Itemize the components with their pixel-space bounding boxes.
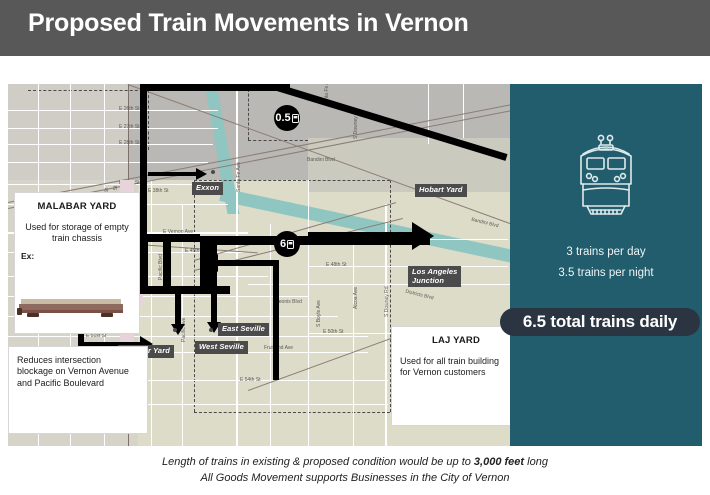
callout-title: MALABAR YARD bbox=[21, 201, 133, 212]
caption-line1-bold: 3,000 feet bbox=[474, 456, 524, 468]
figure-area: E 26th St E 27th St E 28th St E 37th St … bbox=[8, 84, 702, 446]
stats-panel: 3 trains per day 3.5 trains per night 6.… bbox=[510, 84, 702, 446]
street-label: S Boyle Ave bbox=[316, 300, 322, 327]
callout-example-label: Ex: bbox=[21, 251, 133, 261]
train-glyph-icon bbox=[287, 240, 294, 249]
map-label-hobart-yard[interactable]: Hobart Yard bbox=[415, 184, 467, 197]
callout-body: Used for storage of empty train chassis bbox=[21, 222, 133, 245]
street-label: Santa Fe Ave bbox=[236, 162, 242, 192]
total-trains-badge: 6.5 total trains daily bbox=[500, 308, 700, 336]
callout-title: LAJ YARD bbox=[400, 335, 510, 346]
badge-half-train[interactable]: 0.5 bbox=[274, 105, 300, 131]
caption-line-2: All Goods Movement supports Businesses i… bbox=[0, 471, 710, 487]
flatcar-photo bbox=[17, 295, 125, 321]
street-label: Alcoa Ave bbox=[353, 287, 359, 309]
trains-per-day-line: 3 trains per day bbox=[510, 246, 702, 258]
map-dot-exxon bbox=[211, 170, 215, 174]
street-label: E 27th St bbox=[119, 124, 140, 130]
arrow-east-trunk bbox=[412, 222, 434, 250]
total-trains-label: 6.5 total trains daily bbox=[523, 312, 677, 332]
callout-malabar-yard[interactable]: MALABAR YARD Used for storage of empty t… bbox=[14, 192, 140, 334]
arrow-exxon bbox=[196, 168, 207, 180]
caption-line1-post: long bbox=[524, 456, 548, 468]
caption-line1-pre: Length of trains in existing & proposed … bbox=[162, 456, 474, 468]
street-label: E 28th St bbox=[119, 140, 140, 146]
header-bar: Proposed Train Movements in Vernon bbox=[0, 0, 710, 56]
trains-per-night-line: 3.5 trains per night bbox=[510, 267, 702, 279]
map-dot-east-seville bbox=[209, 328, 213, 332]
callout-body: Reduces intersection blockage on Vernon … bbox=[17, 355, 139, 389]
street-label: E 50th St bbox=[323, 329, 344, 335]
caption-line-1: Length of trains in existing & proposed … bbox=[0, 455, 710, 471]
street-label: E 38th St bbox=[148, 188, 169, 194]
map-label-line: Junction bbox=[412, 277, 457, 286]
page-title: Proposed Train Movements in Vernon bbox=[28, 9, 469, 38]
badge-value: 0.5 bbox=[275, 113, 290, 124]
callout-laj-yard[interactable]: LAJ YARD Used for all train building for… bbox=[391, 326, 510, 426]
arrow-laj bbox=[206, 254, 218, 272]
map-dot-west-seville bbox=[173, 328, 177, 332]
street-label: E 26th St bbox=[119, 106, 140, 112]
map-label-exxon[interactable]: Exxon bbox=[192, 182, 223, 195]
street-label: E 54th St bbox=[240, 377, 261, 383]
callout-reduces-blockage[interactable]: Reduces intersection blockage on Vernon … bbox=[8, 346, 148, 434]
train-glyph-icon bbox=[292, 114, 299, 123]
street-label: S Downey Rd bbox=[384, 286, 390, 317]
callout-body: Used for all train building for Vernon c… bbox=[400, 356, 510, 379]
figure-caption: Length of trains in existing & proposed … bbox=[0, 455, 710, 487]
map-label-east-seville[interactable]: East Seville bbox=[218, 323, 269, 336]
street-label: Leonis Blvd bbox=[276, 299, 302, 305]
map-label-west-seville[interactable]: West Seville bbox=[195, 341, 248, 354]
badge-value: 6 bbox=[280, 239, 286, 250]
map-label-los-angeles-junction[interactable]: Los Angeles Junction bbox=[408, 266, 461, 287]
train-front-icon bbox=[567, 132, 645, 218]
badge-six-trains[interactable]: 6 bbox=[274, 231, 300, 257]
map-canvas[interactable]: E 26th St E 27th St E 28th St E 37th St … bbox=[8, 84, 510, 446]
street-label: E 48th St bbox=[326, 262, 347, 268]
street-label: Bandini Blvd bbox=[307, 157, 335, 163]
slide-root: Proposed Train Movements in Vernon bbox=[0, 0, 710, 495]
